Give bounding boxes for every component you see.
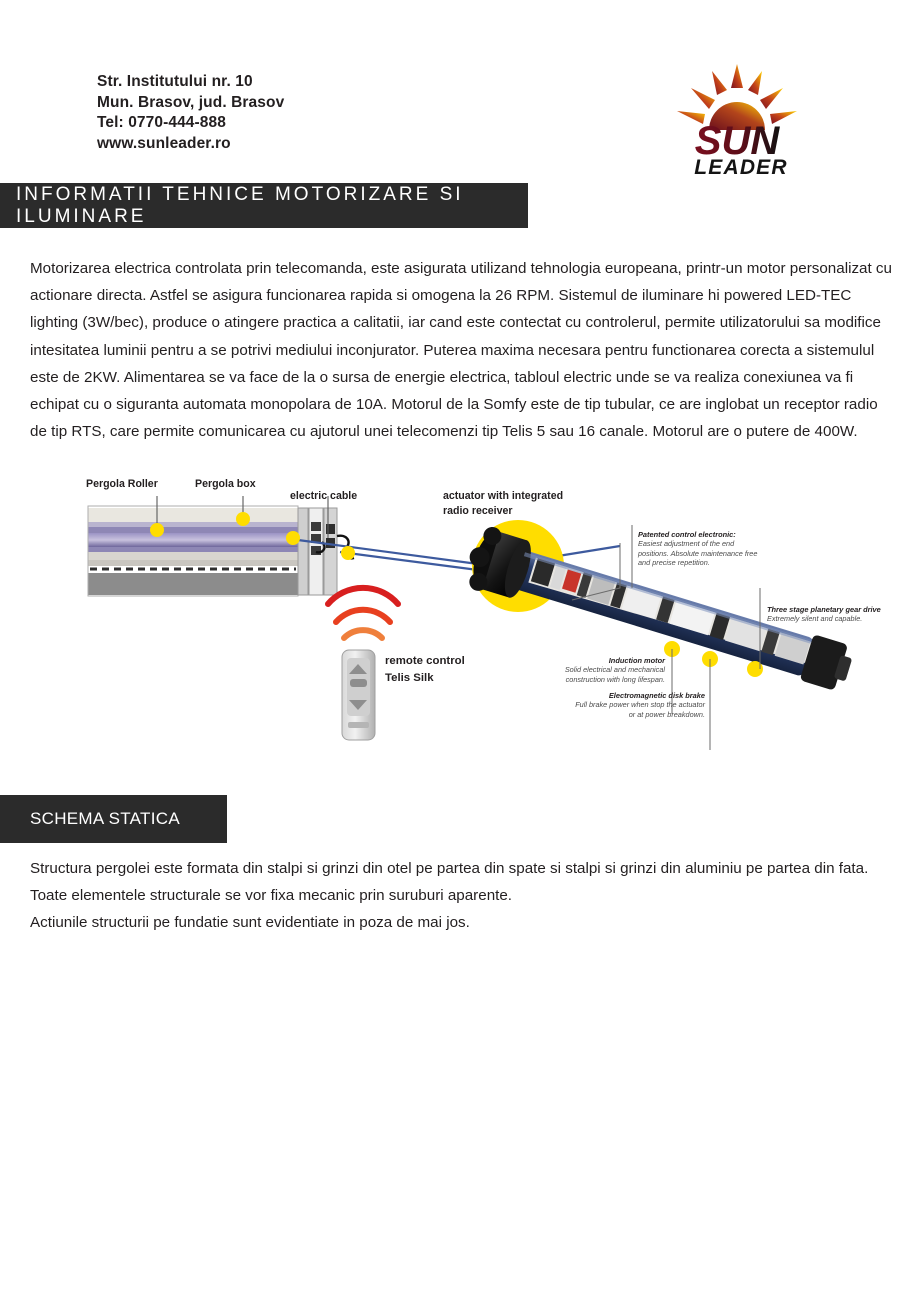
label-remote-control-line-1: remote control	[385, 653, 465, 670]
paragraph-statica-line-1: Structura pergolei este formata din stal…	[30, 860, 868, 904]
section-banner-statica: SCHEMA STATICA	[0, 795, 227, 843]
annotation-title: Patented control electronic:	[638, 530, 757, 539]
annotation-title: Induction motor	[465, 656, 665, 665]
annotation-line: or at power breakdown.	[629, 710, 705, 719]
label-pergola-roller: Pergola Roller	[86, 478, 158, 491]
label-remote-control-line-2: Telis Silk	[385, 670, 434, 687]
paragraph-tehnice: Motorizarea electrica controlata prin te…	[30, 255, 892, 445]
annotation-line: positions. Absolute maintenance free	[638, 549, 757, 558]
label-actuator-line-2: radio receiver	[443, 505, 513, 518]
address-line-city: Mun. Brasov, jud. Brasov	[97, 93, 284, 114]
annotation-line: Solid electrical and mechanical	[565, 665, 665, 674]
label-electric-cable: electric cable	[290, 490, 357, 503]
annotation-line: Full brake power when stop the actuator	[575, 700, 705, 709]
label-actuator-line-1: actuator with integrated	[443, 490, 563, 503]
address-line-phone: Tel: 0770-444-888	[97, 113, 284, 134]
annotation-three-stage-planetary-gear-drive: Three stage planetary gear drive Extreme…	[767, 605, 881, 624]
label-pergola-box: Pergola box	[195, 478, 256, 491]
annotation-patented-control-electronic: Patented control electronic: Easiest adj…	[638, 530, 757, 568]
sun-leader-logo: SUN LEADER	[665, 62, 810, 177]
company-address: Str. Institutului nr. 10 Mun. Brasov, ju…	[97, 72, 284, 154]
pergola-box-graphic	[88, 506, 337, 596]
address-line-website: www.sunleader.ro	[97, 134, 284, 155]
annotation-electromagnetic-disk-brake: Electromagnetic disk brake Full brake po…	[445, 691, 705, 719]
logo-word-leader: LEADER	[694, 156, 788, 177]
annotation-line: Easiest adjustment of the end	[638, 539, 734, 548]
annotation-line: Extremely silent and capable.	[767, 614, 862, 623]
page-header: Str. Institutului nr. 10 Mun. Brasov, ju…	[0, 0, 920, 183]
paragraph-statica: Structura pergolei este formata din stal…	[30, 855, 896, 937]
section-title-tehnice: INFORMATII TEHNICE MOTORIZARE SI ILUMINA…	[0, 184, 528, 228]
annotation-title: Electromagnetic disk brake	[445, 691, 705, 700]
annotation-line: and precise repetition.	[638, 558, 710, 567]
section-banner-tehnice: INFORMATII TEHNICE MOTORIZARE SI ILUMINA…	[0, 183, 528, 228]
address-line-street: Str. Institutului nr. 10	[97, 72, 284, 93]
paragraph-statica-line-2: Actiunile structurii pe fundatie sunt ev…	[30, 909, 896, 936]
annotation-title: Three stage planetary gear drive	[767, 605, 881, 614]
annotation-induction-motor: Induction motor Solid electrical and mec…	[465, 656, 665, 684]
section-title-statica: SCHEMA STATICA	[0, 809, 180, 829]
annotation-line: construction with long lifespan.	[566, 675, 665, 684]
motorization-diagram: Pergola Roller Pergola box electric cabl…	[60, 478, 920, 768]
